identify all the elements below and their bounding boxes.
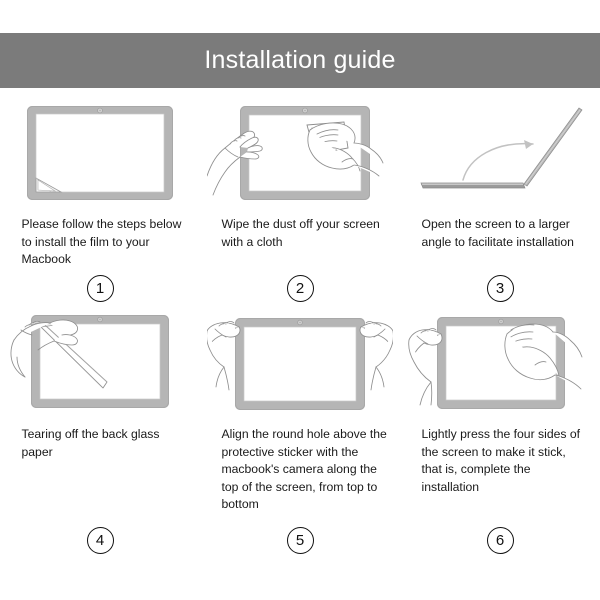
step-card-5: Align the round hole above the protectiv… [200, 310, 400, 560]
header-banner: Installation guide [0, 33, 600, 88]
step-card-1: Please follow the steps below to install… [0, 100, 200, 310]
tablet-wiped-with-cloth-icon [207, 100, 393, 204]
step-6-number-badge: 6 [487, 527, 514, 554]
step-4-caption: Tearing off the back glass paper [13, 426, 188, 461]
step-3-illustration [407, 100, 593, 204]
rotation-arrow-icon [463, 144, 533, 180]
step-6-number: 6 [496, 533, 504, 548]
tablet-with-peeling-film-corner-icon [7, 100, 193, 204]
tablet-pressed-flat-hand-icon [407, 310, 593, 414]
step-3-caption: Open the screen to a larger angle to fac… [413, 216, 588, 251]
steps-row-top: Please follow the steps below to install… [0, 100, 600, 310]
step-card-2: Wipe the dust off your screen with a clo… [200, 100, 400, 310]
laptop-side-profile-opening-arrow-icon [407, 100, 593, 204]
step-1-caption: Please follow the steps below to install… [13, 216, 188, 269]
installation-guide-page: Installation guide [0, 0, 600, 600]
step-4-illustration [7, 310, 193, 414]
step-1-illustration [7, 100, 193, 204]
step-1-number-badge: 1 [87, 275, 114, 302]
step-3-number-badge: 3 [487, 275, 514, 302]
step-card-4: Tearing off the back glass paper 4 [0, 310, 200, 560]
step-2-number-badge: 2 [287, 275, 314, 302]
tablet-peeling-backing-paper-icon [7, 310, 193, 414]
step-1-number: 1 [96, 281, 104, 296]
step-5-illustration [207, 310, 393, 414]
step-5-caption: Align the round hole above the protectiv… [213, 426, 388, 514]
laptop-lid [524, 108, 582, 186]
step-5-number: 5 [296, 533, 304, 548]
step-5-number-badge: 5 [287, 527, 314, 554]
step-card-3: Open the screen to a larger angle to fac… [400, 100, 600, 310]
step-6-illustration [407, 310, 593, 414]
step-4-number: 4 [96, 533, 104, 548]
step-2-illustration [207, 100, 393, 204]
rotation-arrow-head-icon [524, 140, 533, 149]
step-6-caption: Lightly press the four sides of the scre… [413, 426, 588, 496]
step-4-number-badge: 4 [87, 527, 114, 554]
step-card-6: Lightly press the four sides of the scre… [400, 310, 600, 560]
step-2-caption: Wipe the dust off your screen with a clo… [213, 216, 388, 251]
laptop-base [421, 183, 525, 188]
page-title: Installation guide [204, 48, 395, 73]
steps-row-bottom: Tearing off the back glass paper 4 [0, 310, 600, 560]
steps-grid: Please follow the steps below to install… [0, 100, 600, 560]
tablet-held-by-two-hands-aligning-icon [207, 310, 393, 414]
step-2-number: 2 [296, 281, 304, 296]
step-3-number: 3 [496, 281, 504, 296]
